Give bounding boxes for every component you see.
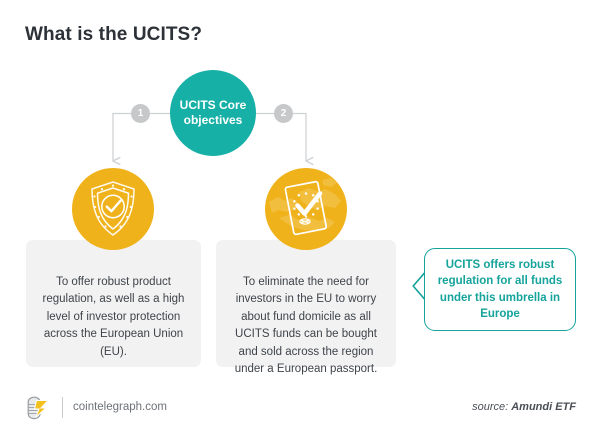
objective-card-2-text: To eliminate the need for investors in t… bbox=[235, 276, 378, 375]
map-backdrop bbox=[269, 178, 341, 231]
infographic-page: What is the UCITS? 1 2 UCITS Core object… bbox=[0, 0, 600, 440]
passport-document-check-icon bbox=[265, 168, 347, 250]
step-badge-1: 1 bbox=[131, 104, 150, 123]
step-badge-2: 2 bbox=[274, 104, 293, 123]
footer-site-label: cointelegraph.com bbox=[73, 401, 167, 413]
objective-card-1: To offer robust product regulation, as w… bbox=[26, 240, 201, 367]
core-objectives-circle: UCITS Core objectives bbox=[170, 70, 256, 156]
source-label: source: bbox=[472, 401, 508, 413]
callout-text: UCITS offers robust regulation for all f… bbox=[435, 257, 565, 322]
source-attribution: source: Amundi ETF bbox=[472, 401, 576, 413]
shield-check-icon bbox=[72, 168, 154, 250]
source-name: Amundi ETF bbox=[511, 401, 576, 413]
page-title: What is the UCITS? bbox=[25, 24, 202, 46]
cointelegraph-logo-icon bbox=[25, 396, 51, 420]
objective-card-2: To eliminate the need for investors in t… bbox=[216, 240, 396, 367]
objective-card-1-text: To offer robust product regulation, as w… bbox=[43, 276, 185, 358]
callout-box: UCITS offers robust regulation for all f… bbox=[424, 248, 576, 331]
core-objectives-label: UCITS Core objectives bbox=[180, 98, 247, 128]
footer-divider bbox=[62, 397, 63, 418]
